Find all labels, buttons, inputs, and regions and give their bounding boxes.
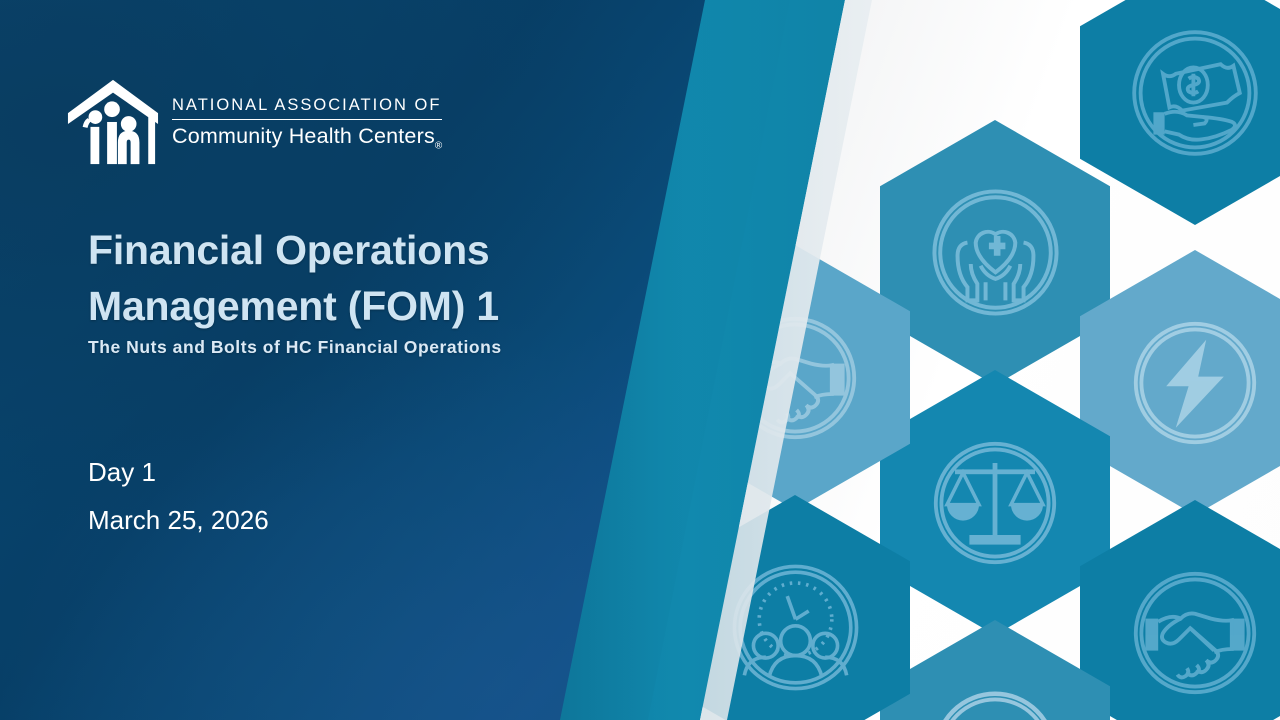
slide-content: NATIONAL ASSOCIATION OF Community Health… xyxy=(88,0,648,720)
day-label: Day 1 xyxy=(88,448,269,496)
title-line-1: Financial Operations xyxy=(88,222,648,278)
hex-heart-hands xyxy=(880,120,1110,385)
handshake-icon xyxy=(1115,553,1275,713)
title-line-2: Management (FOM) 1 xyxy=(88,278,648,334)
slide-meta: Day 1 March 25, 2026 xyxy=(88,448,269,544)
hex-lightning xyxy=(1080,250,1280,515)
hex-handshake xyxy=(1080,500,1280,720)
hand-holding-money-icon xyxy=(1115,13,1275,173)
hex-scales xyxy=(880,370,1110,635)
registered-mark: ® xyxy=(435,140,442,151)
page-subtitle: The Nuts and Bolts of HC Financial Opera… xyxy=(88,336,648,359)
lightning-bolt-icon xyxy=(1115,303,1275,463)
nachc-logo[interactable]: NATIONAL ASSOCIATION OF Community Health… xyxy=(64,74,442,168)
balance-scales-icon xyxy=(915,423,1075,583)
hex-money-hand xyxy=(1080,0,1280,225)
house-family-icon xyxy=(64,74,162,168)
logo-line-2: Community Health Centers® xyxy=(172,120,442,152)
pen-clock-icon xyxy=(915,673,1075,720)
logo-line-1: NATIONAL ASSOCIATION OF xyxy=(172,96,442,120)
hands-holding-heart-icon xyxy=(913,170,1078,335)
hex-pen xyxy=(880,620,1110,720)
page-title: Financial Operations Management (FOM) 1 xyxy=(88,222,648,334)
date-label: March 25, 2026 xyxy=(88,496,269,544)
logo-wordmark: NATIONAL ASSOCIATION OF Community Health… xyxy=(172,90,442,152)
presentation-slide: NATIONAL ASSOCIATION OF Community Health… xyxy=(0,0,1280,720)
